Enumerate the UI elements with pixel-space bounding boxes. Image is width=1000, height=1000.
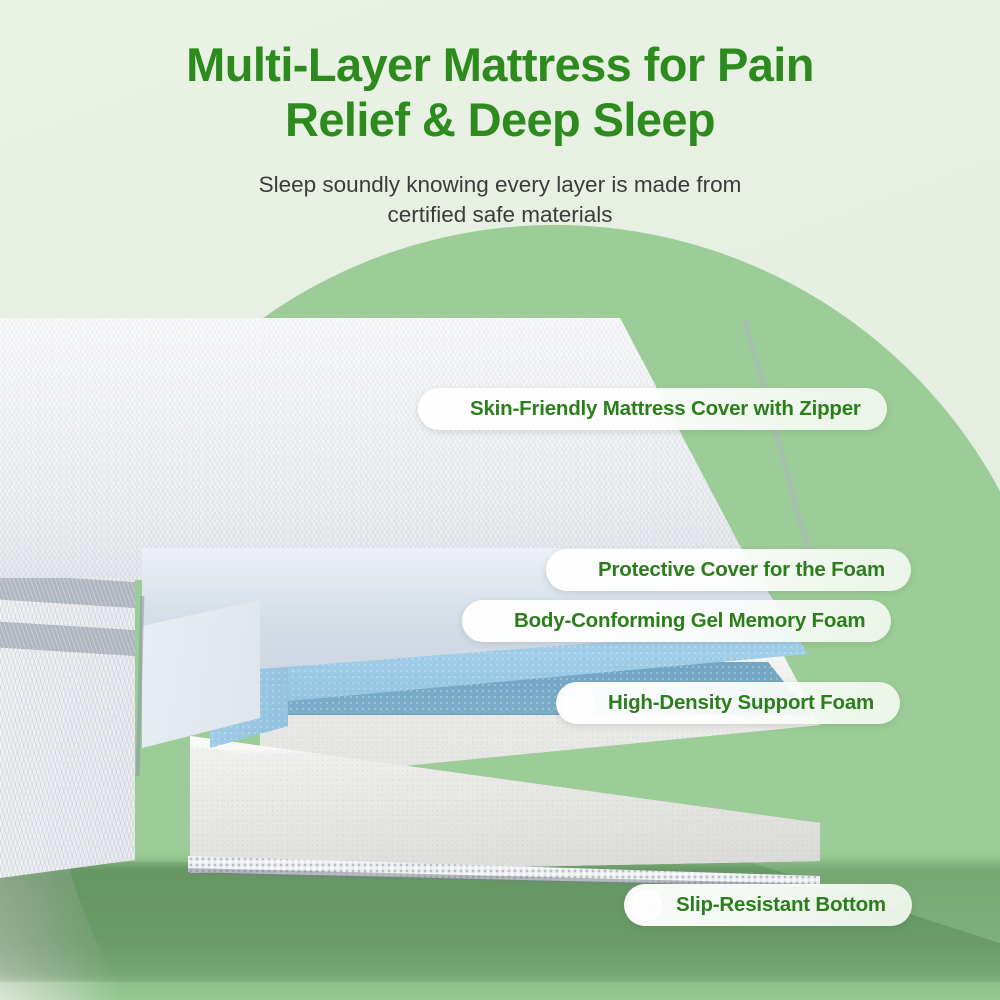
- callout-slip-resistant-bottom[interactable]: Slip-Resistant Bottom: [624, 884, 912, 926]
- page-title: Multi-Layer Mattress for Pain Relief & D…: [0, 38, 1000, 148]
- callout-label: Protective Cover for the Foam: [598, 558, 885, 582]
- header: Multi-Layer Mattress for Pain Relief & D…: [0, 0, 1000, 230]
- callout-high-density-support-foam[interactable]: High-Density Support Foam: [556, 682, 900, 724]
- layer-dot-icon: [632, 890, 662, 920]
- page-subtitle-line-2: certified safe materials: [0, 200, 1000, 230]
- layer-dot-icon: [426, 394, 456, 424]
- layer-dot-icon: [564, 688, 594, 718]
- callout-label: Slip-Resistant Bottom: [676, 893, 886, 917]
- page-title-line-2: Relief & Deep Sleep: [0, 93, 1000, 148]
- infographic-canvas: Multi-Layer Mattress for Pain Relief & D…: [0, 0, 1000, 1000]
- callout-body-conforming-gel-memory-foam[interactable]: Body-Conforming Gel Memory Foam: [462, 600, 891, 642]
- callout-label: Body-Conforming Gel Memory Foam: [514, 609, 865, 633]
- callout-label: Skin-Friendly Mattress Cover with Zipper: [470, 397, 861, 421]
- layer-dot-icon: [470, 606, 500, 636]
- callout-protective-cover-for-the-foam[interactable]: Protective Cover for the Foam: [546, 549, 911, 591]
- layer-dot-icon: [554, 555, 584, 585]
- layer-knit-cover-top-shading: [0, 318, 820, 580]
- callout-label: High-Density Support Foam: [608, 691, 874, 715]
- page-subtitle: Sleep soundly knowing every layer is mad…: [0, 170, 1000, 230]
- page-subtitle-line-1: Sleep soundly knowing every layer is mad…: [0, 170, 1000, 200]
- callout-skin-friendly-mattress-cover-with-zipper[interactable]: Skin-Friendly Mattress Cover with Zipper: [418, 388, 887, 430]
- page-title-line-1: Multi-Layer Mattress for Pain: [0, 38, 1000, 93]
